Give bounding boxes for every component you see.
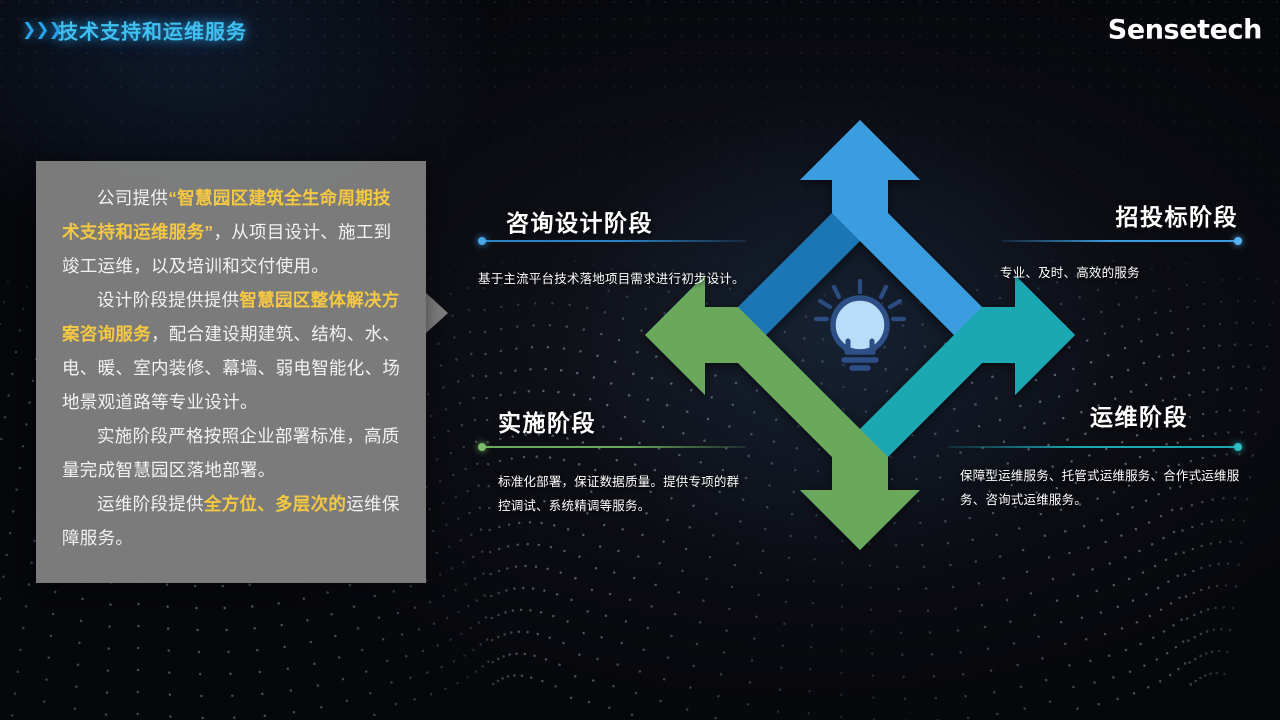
- quadrant-ops-title: 运维阶段: [960, 398, 1188, 432]
- quadrant-bid-title: 招投标阶段: [1000, 198, 1238, 232]
- quadrant-impl-desc: 标准化部署，保证数据质量。提供专项的群控调试、系统精调等服务。: [498, 470, 748, 518]
- quadrant-ops: 运维阶段 保障型运维服务、托管式运维服务、合作式运维服务、咨询式运维服务。: [960, 398, 1250, 512]
- lightbulb-icon: [816, 281, 904, 368]
- body-text: 公司提供: [97, 188, 168, 208]
- body-text: 设计阶段提供提供: [97, 290, 239, 310]
- triple-chevron-right-icon: ❯❯❯: [22, 20, 62, 40]
- description-paragraph: 公司提供“智慧园区建筑全生命周期技术支持和运维服务”，从项目设计、施工到竣工运维…: [62, 181, 404, 283]
- quadrant-consult-desc: 基于主流平台技术落地项目需求进行初步设计。: [478, 267, 748, 291]
- brand-logo: Sensetech: [1108, 15, 1262, 46]
- quadrant-consult: 咨询设计阶段 基于主流平台技术落地项目需求进行初步设计。: [478, 204, 748, 291]
- description-paragraph: 设计阶段提供提供智慧园区整体解决方案咨询服务，配合建设期建筑、结构、水、电、暖、…: [62, 283, 404, 419]
- slide-header: ❯❯❯ 技术支持和运维服务 Sensetech: [0, 0, 1280, 60]
- description-paragraph: 运维阶段提供全方位、多层次的运维保障服务。: [62, 487, 404, 555]
- body-text: 运维阶段提供: [97, 494, 204, 514]
- quadrant-bid: 招投标阶段 专业、及时、高效的服务: [1000, 198, 1250, 285]
- panel-pointer-triangle: [426, 293, 448, 333]
- highlighted-text: 全方位、多层次的: [204, 494, 346, 514]
- description-panel: 公司提供“智慧园区建筑全生命周期技术支持和运维服务”，从项目设计、施工到竣工运维…: [36, 161, 426, 583]
- description-panel-text: 公司提供“智慧园区建筑全生命周期技术支持和运维服务”，从项目设计、施工到竣工运维…: [62, 181, 404, 555]
- body-text: 实施阶段严格按照企业部署标准，高质量完成智慧园区落地部署。: [62, 426, 400, 480]
- quadrant-impl-title: 实施阶段: [498, 404, 748, 438]
- quadrant-ops-desc: 保障型运维服务、托管式运维服务、合作式运维服务、咨询式运维服务。: [960, 464, 1250, 512]
- page-title: 技术支持和运维服务: [58, 16, 247, 45]
- description-paragraph: 实施阶段严格按照企业部署标准，高质量完成智慧园区落地部署。: [62, 419, 404, 487]
- quadrant-consult-title: 咨询设计阶段: [506, 204, 748, 238]
- quadrant-impl: 实施阶段 标准化部署，保证数据质量。提供专项的群控调试、系统精调等服务。: [498, 404, 748, 518]
- slide-canvas: ❯❯❯ 技术支持和运维服务 Sensetech 公司提供“智慧园区建筑全生命周期…: [0, 0, 1280, 720]
- quadrant-bid-desc: 专业、及时、高效的服务: [1000, 261, 1250, 285]
